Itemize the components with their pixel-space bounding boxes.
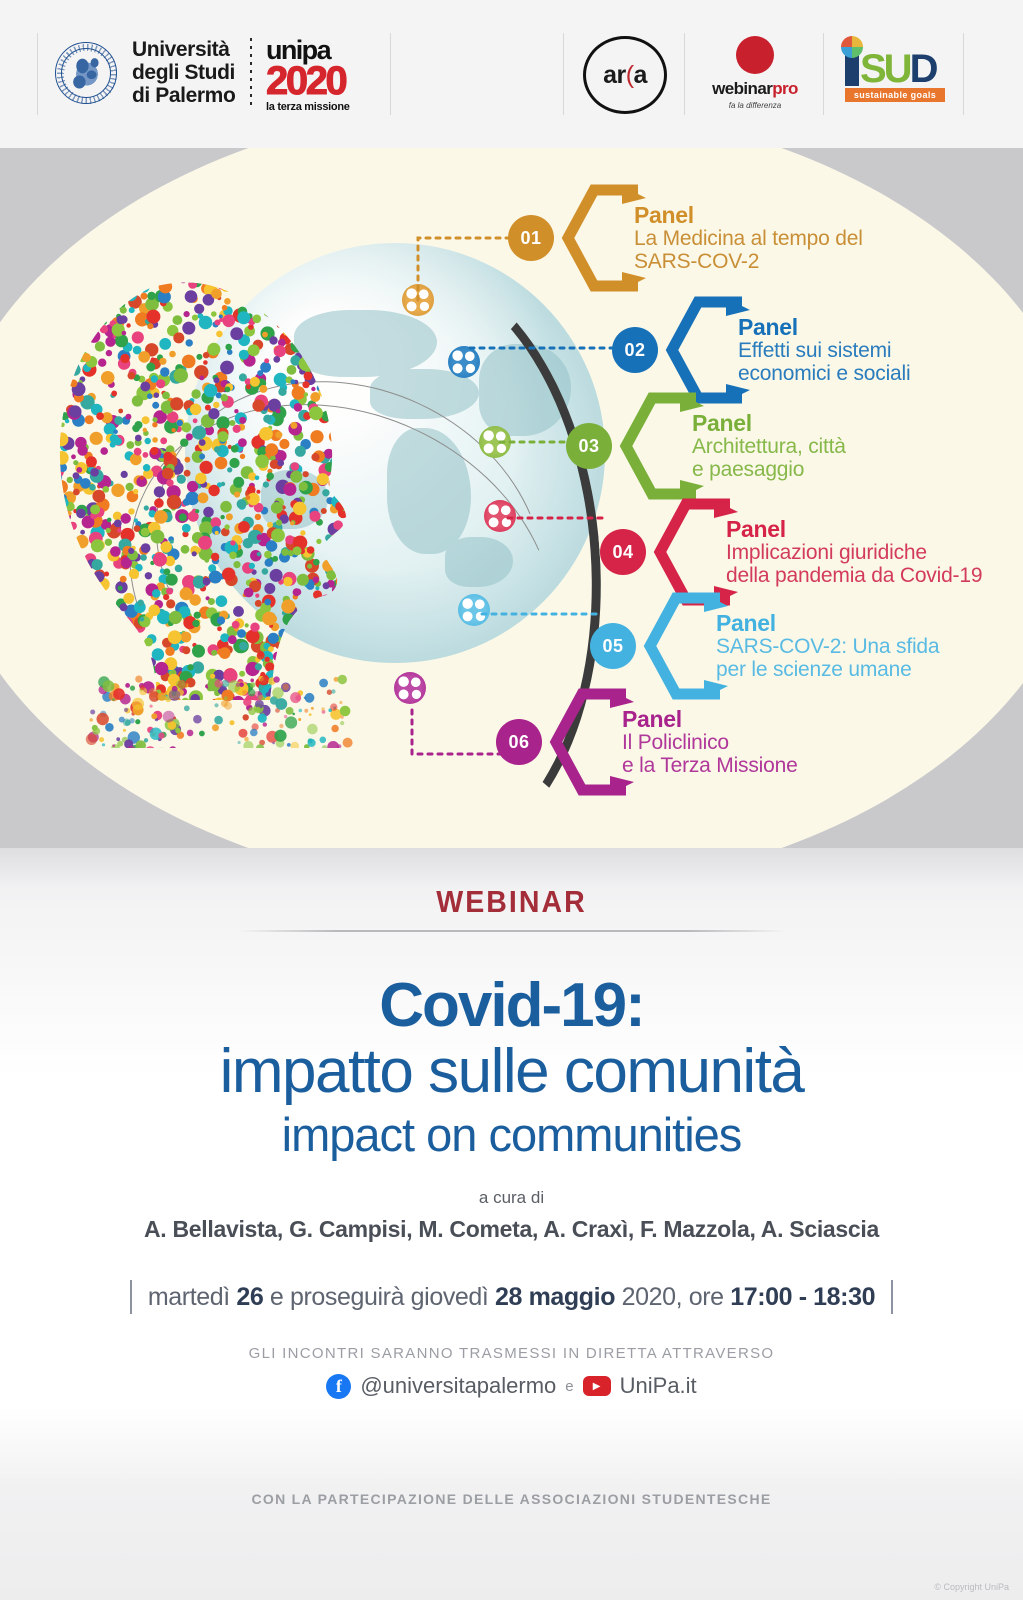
isud-band-text: sustainable goals — [845, 88, 945, 102]
logo-divider — [563, 33, 564, 115]
panel-chevron-06-icon — [548, 688, 634, 796]
isud-i-glyph-icon — [845, 52, 859, 86]
webinarpro-dot-icon — [736, 36, 774, 74]
university-crest-icon — [55, 42, 117, 104]
copyright-text: © Copyright UniPa — [934, 1582, 1009, 1592]
facebook-handle[interactable]: @universitapalermo — [360, 1373, 556, 1399]
page-title: Covid-19: impatto sulle comunità impact … — [0, 974, 1023, 1164]
broadcast-note: GLI INCONTRI SARANNO TRASMESSI IN DIRETT… — [0, 1345, 1023, 1362]
panel-chevron-04-icon — [652, 498, 738, 606]
unipa-2020-tagline: la terza missione — [266, 101, 381, 114]
panel-number-03: 03 — [566, 423, 612, 469]
logo-divider — [684, 33, 685, 115]
university-name-line2: degli Studi — [132, 61, 235, 84]
logo-divider — [37, 33, 38, 115]
main-content: WEBINAR Covid-19: impatto sulle comunità… — [0, 848, 1023, 1600]
panel-item-01[interactable]: 01 Panel La Medicina al tempo del SARS-C… — [508, 184, 863, 292]
date-divider-left — [130, 1280, 132, 1314]
crest-emblem-icon — [68, 54, 106, 94]
aria-logo-text: ar(a — [603, 61, 647, 90]
panel-chevron-03-icon — [618, 392, 704, 500]
eyebrow-divider — [238, 930, 786, 932]
university-name-line3: di Palermo — [132, 84, 235, 107]
panel-text-05: Panel SARS-COV-2: Una sfida per le scien… — [716, 611, 939, 681]
panel-kicker-02: Panel — [738, 315, 910, 339]
panel-title-03: Architettura, città e paesaggio — [692, 435, 846, 481]
unipa-2020-logo: unipa 2020 la terza missione — [266, 38, 381, 114]
social-links: f @universitapalermo e ▶ UniPa.it — [0, 1373, 1023, 1399]
facebook-icon[interactable]: f — [326, 1374, 351, 1399]
aria-logo: ar(a — [583, 36, 667, 114]
youtube-handle[interactable]: UniPa.it — [620, 1373, 697, 1399]
logo-divider — [390, 33, 391, 115]
logo-bar: Università degli Studi di Palermo unipa … — [0, 0, 1023, 148]
panel-item-05[interactable]: 05 Panel SARS-COV-2: Una sfida per le sc… — [590, 592, 939, 700]
panel-item-06[interactable]: 06 Panel Il Policlinico e la Terza Missi… — [496, 688, 798, 796]
panel-title-04: Implicazioni giuridiche della pandemia d… — [726, 541, 982, 587]
panel-kicker-03: Panel — [692, 411, 846, 435]
webinarpro-tagline: fa la differenza — [700, 101, 810, 110]
date-divider-right — [891, 1280, 893, 1314]
page-title-line1: Covid-19: — [0, 974, 1023, 1038]
crest-ring-text-icon — [56, 43, 118, 105]
panel-title-06: Il Policlinico e la Terza Missione — [622, 731, 798, 777]
panel-chevron-05-icon — [642, 592, 728, 700]
webinar-eyebrow: WEBINAR — [41, 884, 982, 920]
panel-kicker-01: Panel — [634, 203, 863, 227]
isud-letters: SU D — [845, 38, 945, 86]
panel-number-01: 01 — [508, 215, 554, 261]
panel-title-02: Effetti sui sistemi economici e sociali — [738, 339, 910, 385]
panel-kicker-05: Panel — [716, 611, 939, 635]
panel-text-04: Panel Implicazioni giuridiche della pand… — [726, 517, 982, 587]
panel-kicker-04: Panel — [726, 517, 982, 541]
isud-d-letter: D — [910, 52, 937, 86]
panel-chevron-01-icon — [560, 184, 646, 292]
logo-divider — [823, 33, 824, 115]
panel-number-06: 06 — [496, 719, 542, 765]
panel-number-04: 04 — [600, 529, 646, 575]
associations-note: CON LA PARTECIPAZIONE DELLE ASSOCIAZIONI… — [0, 1491, 1023, 1507]
panel-text-06: Panel Il Policlinico e la Terza Missione — [622, 707, 798, 777]
panel-number-02: 02 — [612, 327, 658, 373]
webinarpro-logo: webinarpro fa la differenza — [700, 36, 810, 110]
panel-number-05: 05 — [590, 623, 636, 669]
credits-label: a cura di — [0, 1188, 1023, 1208]
panel-title-01: La Medicina al tempo del SARS-COV-2 — [634, 227, 863, 273]
panel-item-04[interactable]: 04 Panel Implicazioni giuridiche della p… — [600, 498, 982, 606]
page-title-line3: impact on communities — [0, 1106, 1023, 1164]
logo-dotted-divider — [250, 38, 252, 110]
date-row: martedì 26 e proseguirà giovedì 28 maggi… — [0, 1280, 1023, 1314]
youtube-icon[interactable]: ▶ — [583, 1376, 611, 1396]
panel-kicker-06: Panel — [622, 707, 798, 731]
panel-item-02[interactable]: 02 Panel Effetti sui sistemi economici e… — [612, 296, 910, 404]
panel-text-02: Panel Effetti sui sistemi economici e so… — [738, 315, 910, 385]
university-name-line1: Università — [132, 38, 235, 61]
logo-divider — [963, 33, 964, 115]
panel-text-01: Panel La Medicina al tempo del SARS-COV-… — [634, 203, 863, 273]
unipa-2020-year: 2020 — [266, 62, 381, 100]
speakers-list: A. Bellavista, G. Campisi, M. Cometa, A.… — [0, 1216, 1023, 1243]
webinarpro-wordmark: webinarpro — [700, 79, 810, 99]
social-separator: e — [565, 1378, 573, 1395]
hero-illustration: 01 Panel La Medicina al tempo del SARS-C… — [0, 148, 1023, 848]
page-title-line2: impatto sulle comunità — [0, 1038, 1023, 1106]
university-name: Università degli Studi di Palermo — [132, 38, 235, 107]
panel-item-03[interactable]: 03 Panel Architettura, città e paesaggio — [566, 392, 846, 500]
isud-logo: SU D sustainable goals — [845, 38, 945, 102]
isud-su-letters: SU — [860, 52, 910, 86]
panel-chevron-02-icon — [664, 296, 750, 404]
date-text: martedì 26 e proseguirà giovedì 28 maggi… — [148, 1283, 875, 1312]
panel-text-03: Panel Architettura, città e paesaggio — [692, 411, 846, 481]
panel-title-05: SARS-COV-2: Una sfida per le scienze uma… — [716, 635, 939, 681]
